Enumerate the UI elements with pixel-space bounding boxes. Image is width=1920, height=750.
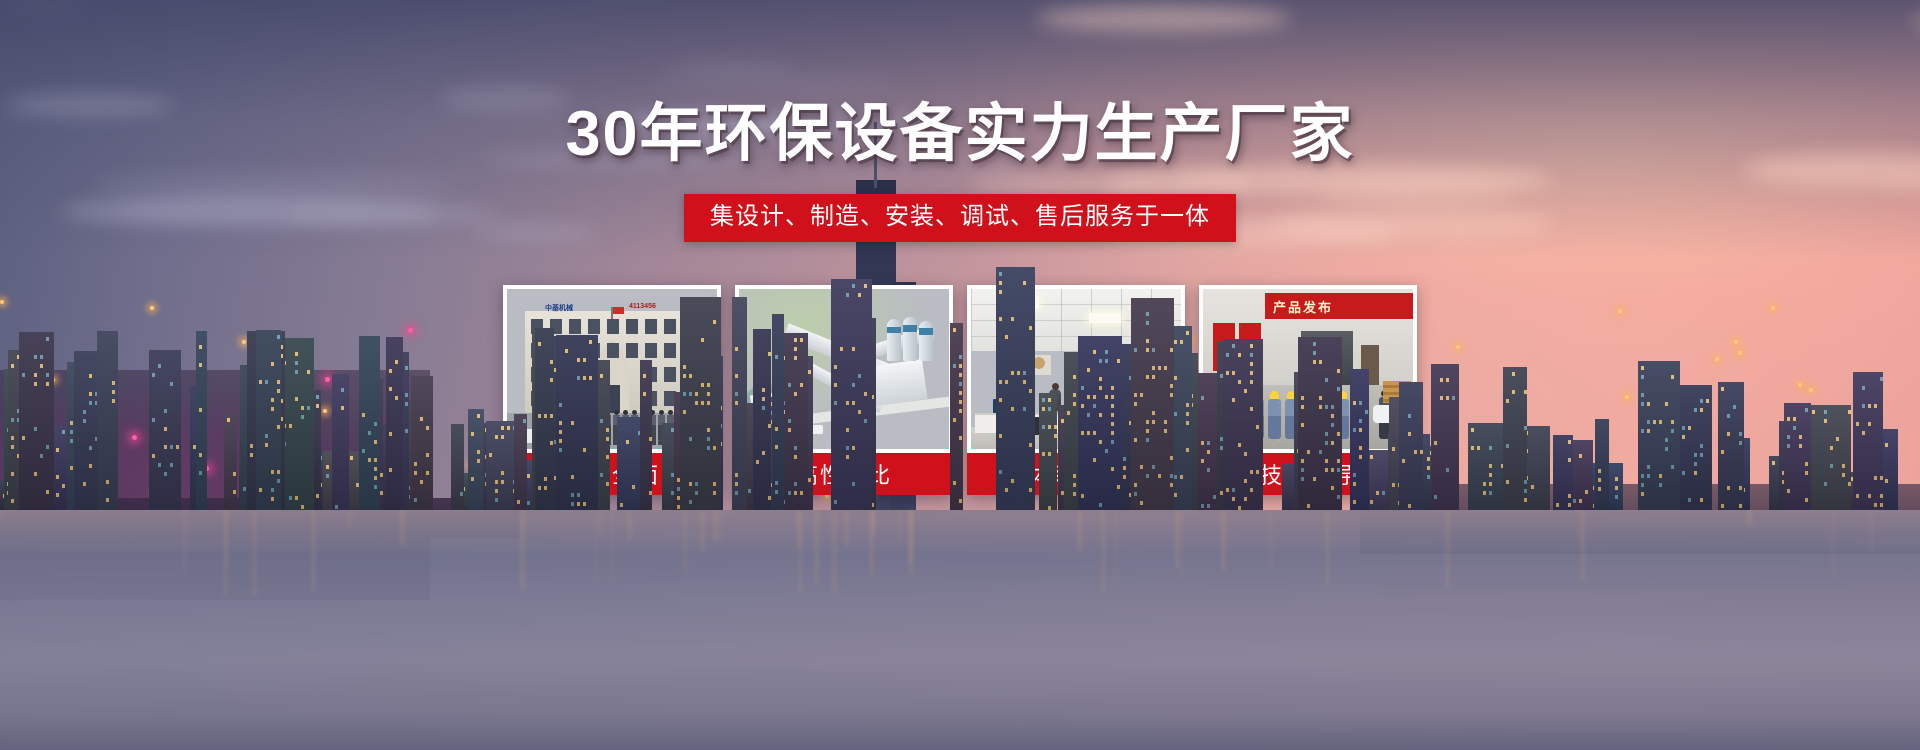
building-window (1152, 420, 1155, 424)
building-window (1615, 486, 1618, 490)
building-window (1700, 444, 1703, 448)
building-window (22, 373, 25, 377)
water-ripple (753, 644, 900, 646)
building-window (707, 383, 710, 387)
building-window (34, 427, 37, 431)
building-window (1489, 446, 1492, 450)
building-window (1512, 372, 1515, 376)
building-window (368, 458, 371, 462)
building-window (1489, 482, 1492, 486)
building-window (959, 364, 962, 368)
building-window (1134, 348, 1137, 352)
building-window (1824, 419, 1827, 423)
building-window (1370, 500, 1373, 504)
building-window (808, 478, 811, 482)
building-window (1874, 476, 1877, 480)
building-window (46, 382, 49, 386)
building-window (1180, 475, 1183, 479)
building-window (683, 410, 686, 414)
building-window (1105, 359, 1108, 363)
building-window (735, 374, 738, 378)
building-window (735, 482, 738, 486)
building-window (1402, 459, 1405, 463)
water-ripple (517, 646, 651, 648)
building-window (1353, 401, 1356, 405)
building-window (1301, 405, 1304, 409)
light-reflection (1078, 510, 1081, 551)
building-window (695, 491, 698, 495)
water-ripple (205, 671, 273, 673)
building-window (1186, 331, 1189, 335)
building-window (389, 432, 392, 436)
building-window (265, 443, 268, 447)
building-window (426, 453, 429, 457)
building-window (1641, 375, 1644, 379)
water-ripple (81, 641, 183, 643)
building-window (34, 472, 37, 476)
light-reflection (1176, 510, 1179, 569)
water-ripple (1605, 517, 1650, 519)
building-window (713, 482, 716, 486)
building-window (1152, 375, 1155, 379)
building-window (1111, 413, 1114, 417)
building-window (1226, 353, 1229, 357)
water-ripple (479, 648, 547, 650)
building-window (1856, 422, 1859, 426)
building-window (538, 486, 541, 490)
water-ripple (449, 573, 553, 575)
building-window (1054, 425, 1057, 429)
building-window (350, 456, 353, 460)
building-window (1359, 446, 1362, 450)
building-window (1099, 377, 1102, 381)
building-window (1506, 399, 1509, 403)
building-window (1647, 474, 1650, 478)
building-window (1641, 366, 1644, 370)
building-window (1256, 425, 1259, 429)
building-window (577, 376, 580, 380)
building (256, 330, 280, 510)
building-window (1665, 447, 1668, 451)
water-ripple (926, 692, 990, 694)
water-ripple (1285, 586, 1385, 588)
building-window (701, 401, 704, 405)
building-window (1048, 407, 1051, 411)
water-ripple (406, 722, 561, 724)
building-window (1023, 371, 1026, 375)
building-window (1087, 431, 1090, 435)
building-window (405, 366, 408, 370)
building-window (1721, 450, 1724, 454)
building-window (707, 437, 710, 441)
light-reflection (224, 510, 227, 596)
building-window (1023, 407, 1026, 411)
street-light (1738, 351, 1742, 355)
building-window (1099, 386, 1102, 390)
building-window (83, 419, 86, 423)
building-window (1653, 420, 1656, 424)
building-window (1238, 380, 1241, 384)
building (1503, 367, 1527, 510)
building-window (277, 335, 280, 339)
building-window (695, 401, 698, 405)
building-window (571, 502, 574, 506)
building-window (1186, 403, 1189, 407)
building-window (1123, 457, 1126, 461)
water-ripple (1293, 595, 1384, 597)
building-window (152, 373, 155, 377)
building-window (1471, 428, 1474, 432)
building-window (1048, 452, 1051, 456)
building-window (1427, 466, 1430, 470)
building-window (664, 343, 676, 358)
building-window (1688, 426, 1691, 430)
building-window (1174, 340, 1177, 344)
building-window (1111, 440, 1114, 444)
building-window (389, 468, 392, 472)
building-window (1427, 457, 1430, 461)
building-window (645, 319, 657, 334)
building (97, 331, 118, 510)
building (196, 331, 206, 510)
light-reflection (1115, 510, 1118, 586)
water-ripple (415, 625, 475, 627)
building-window (864, 284, 867, 288)
building-window (1489, 473, 1492, 477)
building-window (158, 463, 161, 467)
water-ripple (26, 645, 97, 647)
building-window (1250, 488, 1253, 492)
building-window (999, 272, 1002, 276)
building-window (1337, 387, 1340, 391)
building (535, 328, 553, 510)
workshop-banner: 产品发布 (1265, 293, 1413, 319)
building-window (565, 349, 568, 353)
building-window (1353, 473, 1356, 477)
building-window (277, 389, 280, 393)
building-window (1694, 471, 1697, 475)
building-window (414, 471, 417, 475)
building-window (1073, 483, 1076, 487)
building-window (46, 337, 49, 341)
building-window (1671, 429, 1674, 433)
light-reflection (312, 510, 315, 591)
building-window (1787, 489, 1790, 493)
building-window (1408, 504, 1411, 508)
building-window (1226, 488, 1229, 492)
building-window (1146, 420, 1149, 424)
building-window (1073, 474, 1076, 478)
building-window (1029, 488, 1032, 492)
building-window (1556, 503, 1559, 507)
building-window (1158, 366, 1161, 370)
building-window (1506, 444, 1509, 448)
building-window (544, 486, 547, 490)
building-window (1874, 503, 1877, 507)
building-window (1862, 431, 1865, 435)
building-window (265, 380, 268, 384)
building-window (846, 455, 849, 459)
building (680, 297, 721, 510)
building-window (852, 347, 855, 351)
building-window (477, 459, 480, 463)
building-window (775, 490, 778, 494)
building-window (538, 414, 541, 418)
building-window (1111, 395, 1114, 399)
building-window (152, 454, 155, 458)
neon-light (132, 435, 137, 440)
water-ripple (234, 591, 266, 593)
water-ripple (1406, 614, 1451, 616)
light-reflection (401, 510, 404, 545)
building-window (89, 446, 92, 450)
building-window (583, 502, 586, 506)
building-window (538, 342, 541, 346)
building-window (501, 471, 504, 475)
building-window (1598, 469, 1601, 473)
silo-shape (887, 319, 901, 361)
building-window (1359, 401, 1362, 405)
light-reflection (521, 510, 524, 590)
water-ripple (871, 520, 937, 522)
building-window (713, 446, 716, 450)
building-window (695, 392, 698, 396)
building-window (735, 401, 738, 405)
building-window (834, 401, 837, 405)
building-window (1134, 483, 1137, 487)
water-ripple (1734, 581, 1837, 583)
building-window (683, 374, 686, 378)
water-ripple (513, 545, 668, 547)
building-window (1524, 390, 1527, 394)
building-window (1733, 405, 1736, 409)
building-window (1671, 420, 1674, 424)
building-window (762, 406, 765, 410)
building-window (1238, 353, 1241, 357)
building-window (1793, 417, 1796, 421)
water-ripple (93, 654, 197, 656)
building-window (106, 498, 109, 502)
building-window (1641, 393, 1644, 397)
building-window (199, 408, 202, 412)
light-reflection (1102, 510, 1105, 592)
building-window (1799, 435, 1802, 439)
building-window (1180, 340, 1183, 344)
building-window (701, 383, 704, 387)
building-window (1665, 438, 1668, 442)
water-ripple (196, 725, 335, 727)
building-window (1238, 506, 1241, 510)
building-window (626, 319, 638, 334)
building-window (374, 485, 377, 489)
building-window (1186, 448, 1189, 452)
building-window (852, 446, 855, 450)
building-window (588, 319, 600, 334)
light-reflection (701, 510, 704, 551)
building-window (1005, 488, 1008, 492)
building-window (62, 430, 65, 434)
building-window (1081, 404, 1084, 408)
building-window (1073, 402, 1076, 406)
water-ripple (369, 698, 404, 700)
building-window (1313, 351, 1316, 355)
street-light (1625, 395, 1629, 399)
building-window (1073, 375, 1076, 379)
building-window (1325, 468, 1328, 472)
building-window (1319, 396, 1322, 400)
building-window (164, 409, 167, 413)
water-ripple (1109, 666, 1237, 668)
building-window (70, 466, 73, 470)
building-window (507, 426, 510, 430)
water-ripple (522, 696, 615, 698)
building-window (40, 355, 43, 359)
building-window (735, 491, 738, 495)
building-window (852, 482, 855, 486)
building-window (1799, 444, 1802, 448)
building-window (683, 365, 686, 369)
building-window (1164, 366, 1167, 370)
water-ripple (661, 535, 729, 537)
building-window (1868, 404, 1871, 408)
building (597, 360, 611, 510)
light-reflection (720, 510, 723, 541)
building-window (1232, 497, 1235, 501)
water-ripple (1588, 647, 1665, 649)
building-window (689, 392, 692, 396)
building-window (1641, 483, 1644, 487)
building-window (1615, 495, 1618, 499)
building-window (1170, 483, 1173, 487)
building-window (600, 374, 603, 378)
water-ripple (225, 662, 346, 664)
water-ripple (355, 539, 499, 541)
building-window (794, 356, 797, 360)
building-window (1739, 504, 1742, 508)
building-window (1011, 479, 1014, 483)
building-window (1598, 478, 1601, 482)
building-window (544, 414, 547, 418)
building-window (295, 370, 298, 374)
water-ripple (247, 622, 393, 624)
building-window (259, 488, 262, 492)
water-ripple (8, 607, 76, 609)
building-window (953, 418, 956, 422)
building-window (852, 401, 855, 405)
building-window (1688, 498, 1691, 502)
building-window (1382, 491, 1385, 495)
building-window (176, 445, 179, 449)
building-window (1140, 393, 1143, 397)
workshop-banner-text: 产品发布 (1273, 297, 1333, 316)
building-window (1099, 503, 1102, 507)
building-window (89, 464, 92, 468)
building-window (1301, 423, 1304, 427)
building-window (1824, 482, 1827, 486)
building-window (571, 421, 574, 425)
building-window (583, 358, 586, 362)
building-window (1477, 446, 1480, 450)
building-window (643, 374, 646, 378)
building-window (1029, 326, 1032, 330)
water-ripple (962, 605, 1072, 607)
building-window (1029, 389, 1032, 393)
light-reflection (628, 510, 631, 540)
building-window (11, 418, 14, 422)
building-window (577, 502, 580, 506)
building-window (1011, 407, 1014, 411)
building-window (395, 360, 398, 364)
building-window (606, 482, 609, 486)
building-window (11, 472, 14, 476)
building (1853, 372, 1884, 510)
building-window (846, 428, 849, 432)
building-window (1392, 483, 1395, 487)
building-window (1647, 420, 1650, 424)
building-window (112, 399, 115, 403)
building-window (606, 437, 609, 441)
building-window (1207, 504, 1210, 508)
building-window (295, 361, 298, 365)
building-window (1301, 477, 1304, 481)
building-window (1011, 317, 1014, 321)
building (1223, 339, 1263, 510)
building-window (607, 343, 619, 358)
building (1298, 337, 1342, 510)
building-window (295, 496, 298, 500)
building-window (1787, 444, 1790, 448)
building-window (1772, 461, 1775, 465)
building-window (1164, 420, 1167, 424)
worker-shape (1268, 399, 1281, 439)
building-window (46, 490, 49, 494)
building-window (1512, 390, 1515, 394)
building-window (1880, 503, 1883, 507)
building-window (1067, 411, 1070, 415)
building-window (527, 501, 530, 505)
building-window (959, 499, 962, 503)
building (1350, 369, 1369, 510)
building-window (999, 470, 1002, 474)
water-ripple (1718, 717, 1761, 719)
building (359, 336, 380, 510)
building-window (775, 427, 778, 431)
building-window (1023, 380, 1026, 384)
company-sign: 中基机械 (545, 303, 573, 313)
building-window (794, 392, 797, 396)
water-ripple (1171, 735, 1220, 737)
building-window (735, 392, 738, 396)
building-window (1337, 432, 1340, 436)
building-window (689, 374, 692, 378)
building-window (606, 455, 609, 459)
building (224, 413, 237, 510)
building-window (1862, 404, 1865, 408)
building-window (1434, 441, 1437, 445)
water-ripple (295, 531, 370, 533)
water-ripple (743, 675, 877, 677)
building-window (1524, 498, 1527, 502)
building-window (1446, 378, 1449, 382)
building-window (1117, 359, 1120, 363)
building (332, 374, 348, 510)
water-ripple (813, 740, 930, 742)
building-window (1201, 441, 1204, 445)
building-window (1805, 471, 1808, 475)
light-reflection (1446, 510, 1449, 587)
building-window (571, 475, 574, 479)
building-window (1392, 447, 1395, 451)
